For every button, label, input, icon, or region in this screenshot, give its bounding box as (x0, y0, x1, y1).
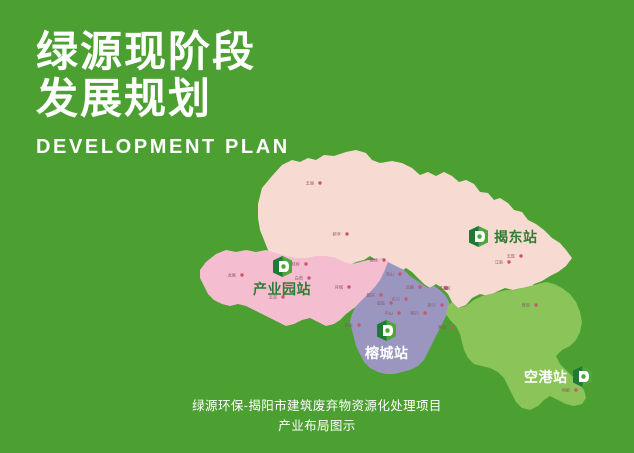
city-marker-label: 月城 (335, 284, 344, 291)
city-marker-label: 揭东区 (438, 285, 451, 292)
caption-line-2: 产业布局图示 (0, 416, 634, 437)
development-plan-poster: 玉湖新亨锡场桂岭白塔龙尾月城玉滘凤山云路揭东区磐东曲溪东兴中山榕兴新兴梅云渔湖江… (0, 0, 634, 453)
station-marker-rongcheng[interactable]: 榕城站 (365, 320, 409, 363)
lvyuan-logo-icon (273, 256, 292, 277)
title-line-2: 发展规划 (36, 75, 366, 122)
title-line-1: 绿源现阶段 (36, 28, 366, 75)
station-label-chanyeyuan: 产业园站 (253, 279, 311, 299)
subtitle-english: DEVELOPMENT PLAN (36, 136, 366, 159)
city-marker-label: 登岗 (522, 302, 530, 308)
lvyuan-logo-icon (573, 366, 592, 387)
city-marker-label: 锡场 (370, 257, 378, 264)
city-marker-label: 玉湖 (306, 180, 314, 187)
city-marker-label: 新亨 (333, 231, 341, 238)
city-marker-label: 凤山 (386, 271, 394, 278)
station-marker-konggang[interactable]: 空港站 (524, 366, 592, 387)
poster-caption: 绿源环保-揭阳市建筑废弃物资源化处理项目 产业布局图示 (0, 396, 634, 437)
city-marker-label: 中山 (385, 310, 393, 317)
station-marker-chanyeyuan[interactable]: 产业园站 (253, 256, 311, 299)
city-marker-label: 玉窖 (507, 253, 515, 260)
station-label-jiedong: 揭东站 (494, 227, 538, 247)
city-marker-label: 东兴 (392, 296, 400, 303)
caption-line-1: 绿源环保-揭阳市建筑废弃物资源化处理项目 (0, 396, 634, 417)
city-marker-label: 新兴 (428, 302, 436, 309)
city-marker-label: 地都 (562, 387, 571, 394)
city-marker-label: 磐东 (367, 292, 375, 299)
city-marker-label: 渔湖 (438, 324, 446, 331)
station-label-konggang: 空港站 (524, 367, 568, 387)
title-block: 绿源现阶段 发展规划 DEVELOPMENT PLAN (36, 28, 366, 159)
city-marker-label: 曲溪 (377, 300, 386, 307)
city-marker-label: 梅云 (345, 322, 353, 329)
city-marker-label: 云路 (406, 284, 415, 291)
city-marker-label: 江南 (495, 259, 503, 266)
station-label-rongcheng: 榕城站 (365, 343, 409, 363)
station-marker-jiedong[interactable]: 揭东站 (469, 226, 538, 247)
lvyuan-logo-icon (377, 320, 396, 341)
city-marker-label: 龙尾 (228, 272, 236, 279)
lvyuan-logo-icon (469, 226, 488, 247)
city-marker-label: 榕兴 (411, 310, 419, 317)
